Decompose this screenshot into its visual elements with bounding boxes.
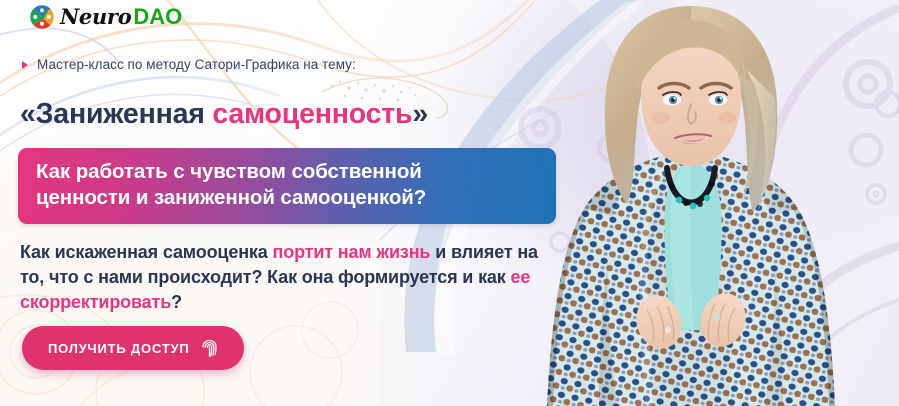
- triangle-bullet-icon: [22, 61, 28, 69]
- fingerprint-icon: [201, 339, 218, 358]
- page-title: «Заниженная самоценность»: [20, 99, 428, 130]
- question-line-2: ценности и заниженной самооценкой?: [36, 185, 538, 211]
- para-accent1: портит нам жизнь: [273, 242, 431, 262]
- get-access-label: ПОЛУЧИТЬ ДОСТУП: [48, 341, 190, 356]
- question-line-1: Как работать с чувством собственной: [36, 159, 538, 185]
- para-seg3: ?: [171, 292, 182, 312]
- headline-part1: «Заниженная: [20, 98, 212, 130]
- para-seg1: Как искаженная самооценка: [20, 242, 273, 262]
- get-access-button[interactable]: ПОЛУЧИТЬ ДОСТУП: [22, 326, 244, 370]
- eyebrow-text: Мастер-класс по методу Сатори-Графика на…: [37, 57, 356, 72]
- brand-logo[interactable]: NeuroDAO: [28, 3, 182, 31]
- description-paragraph: Как искаженная самооценка портит нам жиз…: [20, 240, 540, 316]
- question-box: Как работать с чувством собственной ценн…: [18, 148, 556, 224]
- brand-wordmark: NeuroDAO: [60, 6, 182, 28]
- brand-name-part1: Neuro: [60, 6, 131, 27]
- brand-name-part2: DAO: [133, 6, 182, 28]
- eyebrow-line: Мастер-класс по методу Сатори-Графика на…: [22, 57, 356, 72]
- promo-banner: NeuroDAO: [0, 0, 899, 406]
- headline-part3: »: [412, 98, 428, 130]
- pinwheel-diamond-logo-icon: [28, 3, 56, 31]
- headline-accent: самоценность: [212, 98, 412, 130]
- hero-content: Мастер-класс по методу Сатори-Графика на…: [0, 0, 600, 406]
